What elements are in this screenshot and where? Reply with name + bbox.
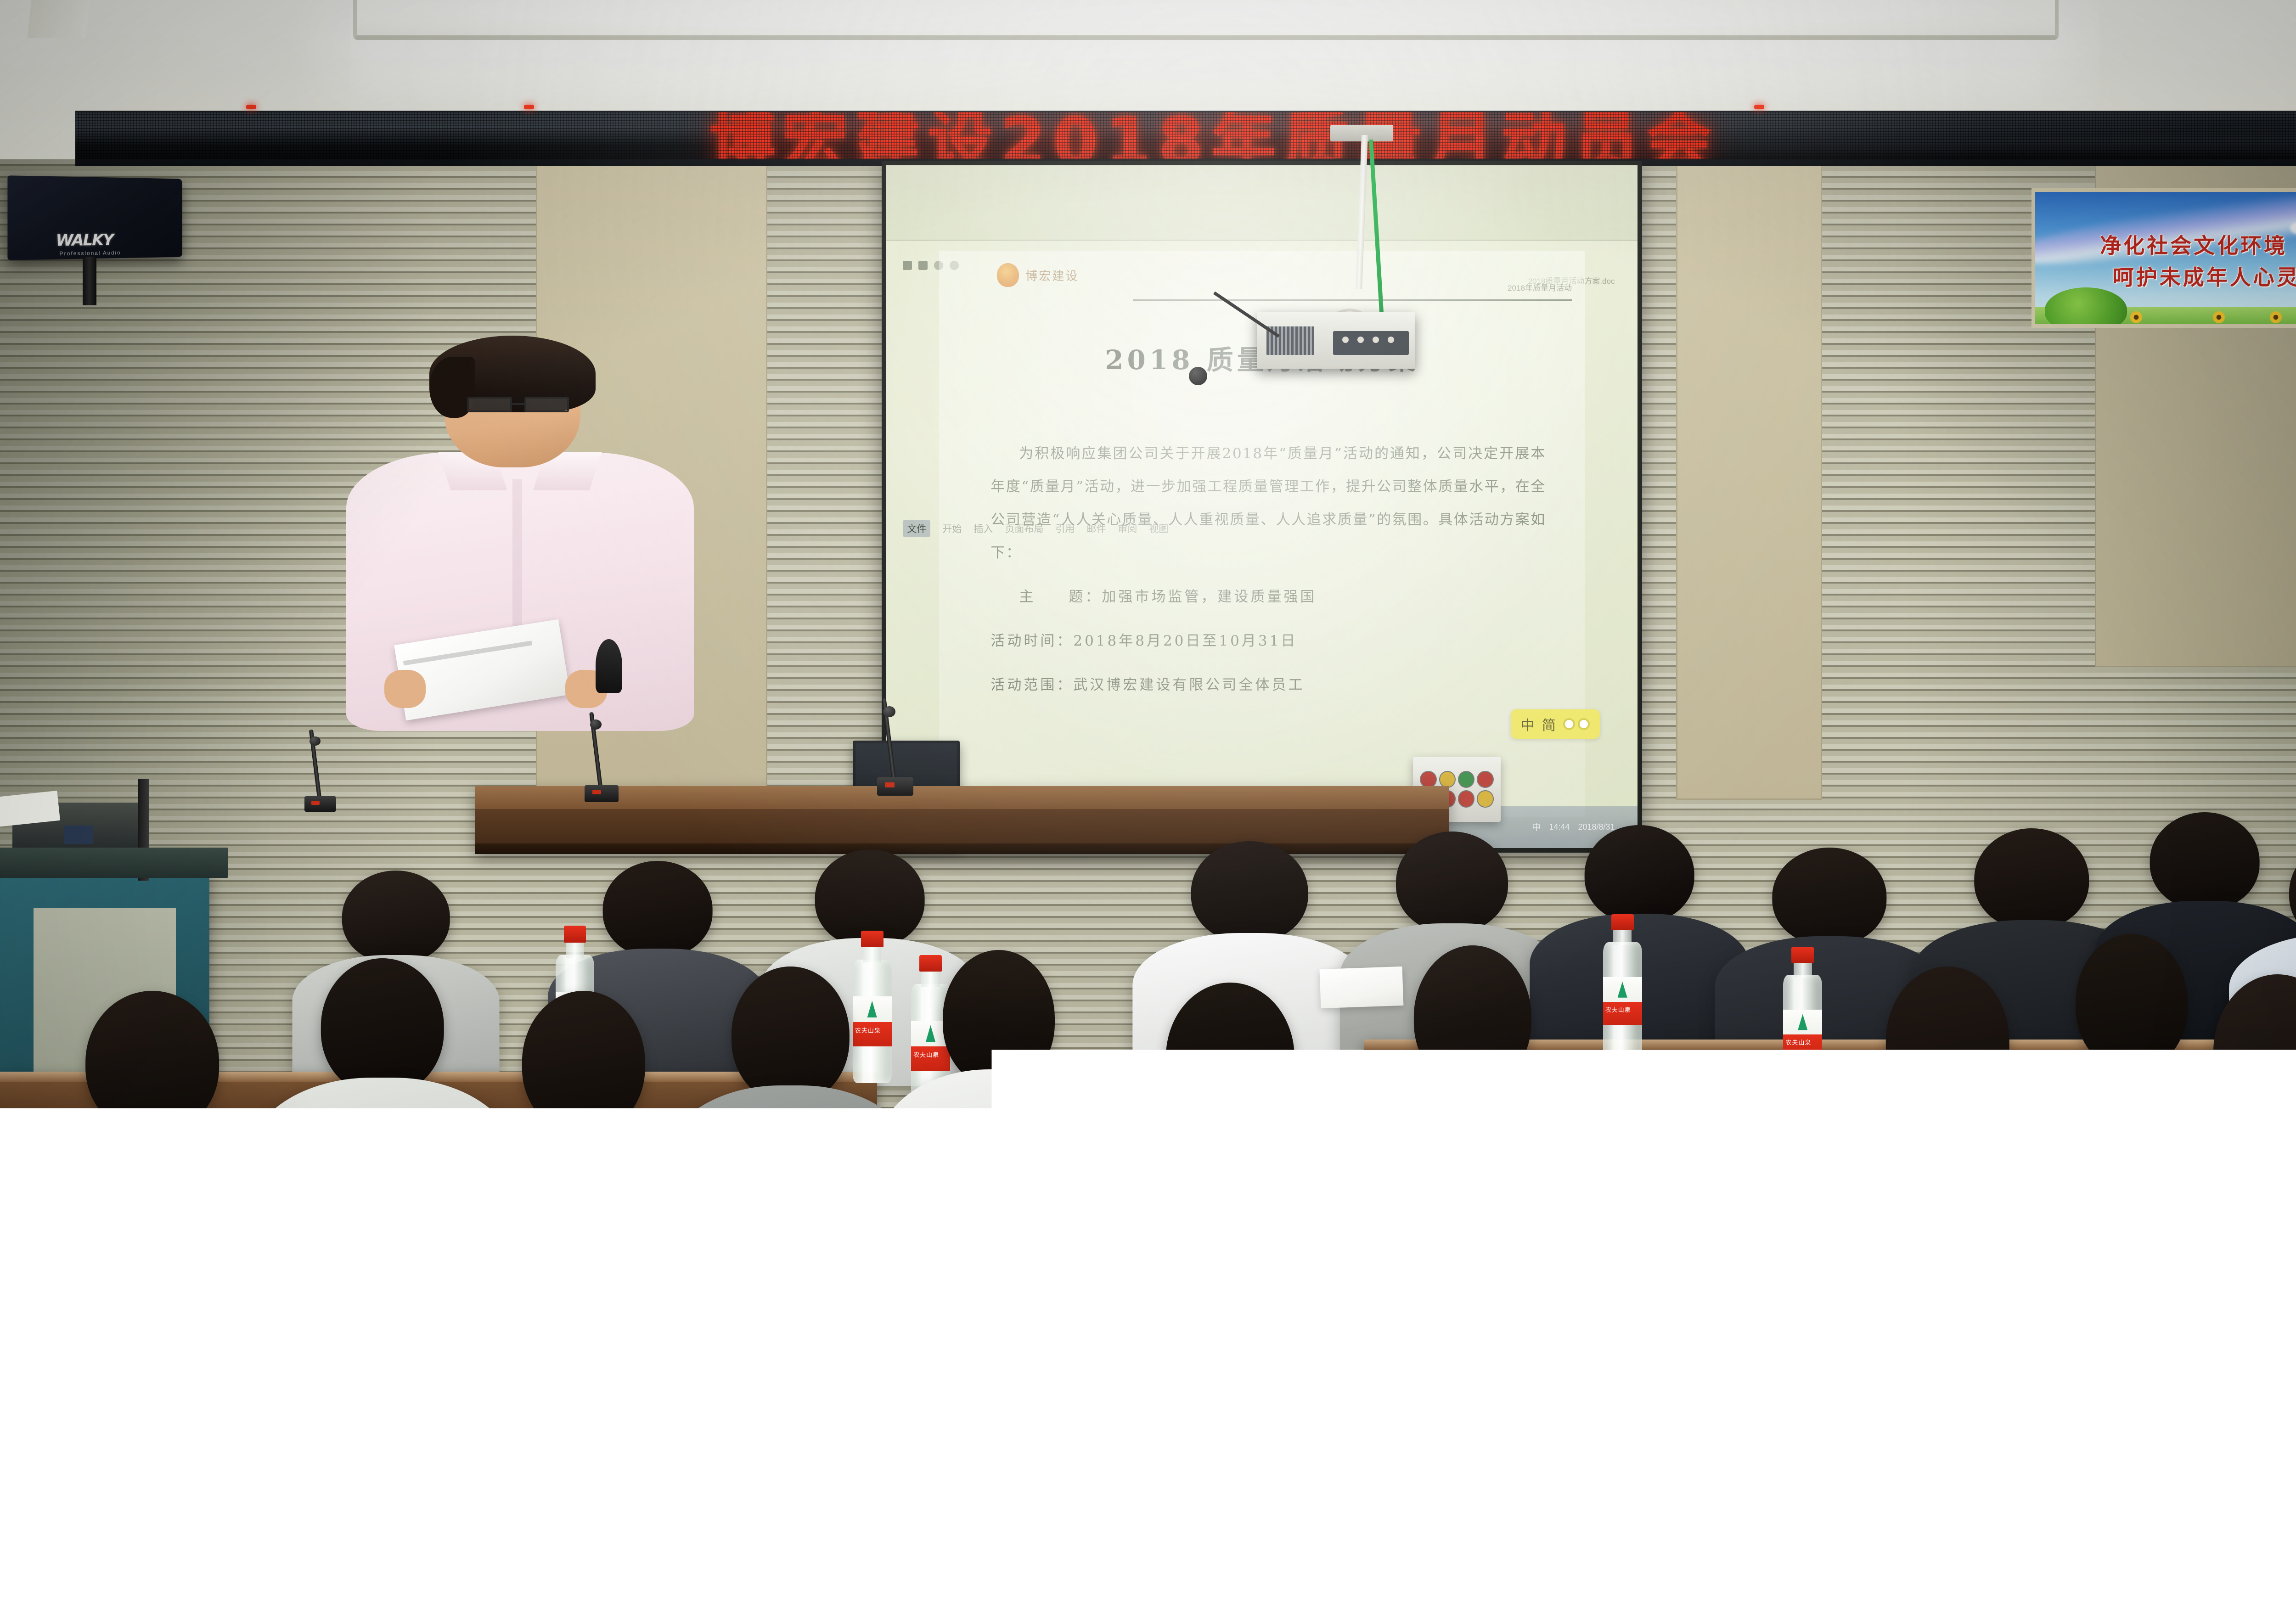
led-indicator-icon (1754, 105, 1764, 109)
menu-item-file[interactable]: 文件 (903, 520, 930, 537)
presenter (331, 349, 709, 731)
poster-tree-icon (2045, 287, 2127, 325)
save-icon[interactable] (918, 261, 928, 270)
wall-poster: 净化社会文化环境 呵护未成年人心灵 (2035, 192, 2296, 324)
document-header-note: 2018年质量月活动 (1508, 281, 1572, 293)
wall-poster-frame: 净化社会文化环境 呵护未成年人心灵 (2032, 188, 2296, 328)
speaker-tagline-label: Professional Audio (60, 249, 121, 256)
led-banner: 博宏建设2018年质量月动员会 (75, 112, 2296, 159)
ceiling-beam-left (27, 0, 90, 38)
gooseneck-microphone (304, 741, 336, 812)
document-body: 为积极响应集团公司关于开展2018年“质量月”活动的通知，公司决定开展本年度“质… (990, 438, 1546, 702)
projector-port-panel (1333, 331, 1409, 355)
led-pixel-grid (75, 112, 2296, 159)
speaker-wall-bracket (83, 257, 96, 305)
ime-toolbar[interactable]: 中 简 (1511, 709, 1600, 739)
rca-port-icon (1373, 337, 1379, 343)
rca-port-icon (1388, 337, 1394, 343)
rca-port-icon (1357, 337, 1364, 343)
presenter-left-hand (384, 670, 426, 708)
open-booklet (2067, 1460, 2296, 1593)
led-indicator-icon (246, 105, 256, 109)
speaker-brand-label: WALKY (56, 231, 113, 250)
rca-port-icon (1342, 337, 1349, 343)
handheld-microphone (596, 639, 622, 692)
hanging-microphone-head (1189, 367, 1207, 385)
water-bottle: 农夫山泉 (1316, 1267, 1379, 1497)
projection-screen-frame: 2018质量月活动方案.doc 文件 开始 插入 页面布局 引用 邮件 审阅 视… (882, 161, 1642, 853)
ceiling-projector (1257, 312, 1415, 369)
document-paragraph: 活动时间：2018年8月20日至10月31日 (990, 625, 1546, 658)
projection-screen: 2018质量月活动方案.doc 文件 开始 插入 页面布局 引用 邮件 审阅 视… (886, 165, 1637, 848)
water-bottle: 农夫山泉 (872, 1275, 935, 1506)
document-paragraph: 活动范围：武汉博宏建设有限公司全体员工 (990, 669, 1546, 702)
app-ribbon (886, 165, 1637, 241)
gooseneck-microphone (877, 711, 914, 796)
water-bottle: 农夫山泉 (1936, 1429, 2005, 1624)
document-header: 博宏建设 (997, 263, 1079, 287)
ime-mode-label[interactable]: 中 (1521, 714, 1535, 734)
pa-speaker-cabinet: WALKY Professional Audio (8, 175, 183, 260)
document-header-rule (1133, 299, 1572, 301)
company-logo-icon (997, 263, 1019, 287)
app-logo-icon (903, 261, 912, 270)
poster-sunflower-icon (2270, 311, 2282, 323)
water-bottle: 农夫山泉 (2042, 1234, 2105, 1461)
company-name-label: 博宏建设 (1025, 267, 1079, 284)
water-bottle: 农夫山泉 (370, 1286, 433, 1513)
document-paragraph: 主 题：加强市场监管，建设质量强国 (990, 581, 1546, 614)
shoulder-bag (37, 1510, 354, 1624)
gooseneck-microphone (585, 725, 619, 803)
water-bottle: 农夫山泉 (1598, 914, 1647, 1060)
rack-top-surface (0, 848, 228, 877)
sogou-eyes-icon[interactable] (1563, 718, 1590, 730)
ime-tool-label[interactable]: 简 (1542, 714, 1556, 734)
desk-foreground-mid (706, 1478, 1218, 1624)
led-indicator-icon (524, 105, 534, 109)
glasses-icon (467, 397, 569, 412)
poster-sunflower-icon (2213, 311, 2225, 323)
poster-sunflower-icon (2130, 311, 2142, 323)
poster-line-2: 呵护未成年人心灵 (2035, 261, 2296, 291)
meeting-room-photo: 博宏建设2018年质量月动员会 WALKY Professional Audio… (0, 0, 2296, 1624)
poster-line-1: 净化社会文化环境 (2035, 229, 2296, 259)
ceiling-light-panel (353, 0, 2059, 40)
document-paragraph: 为积极响应集团公司关于开展2018年“质量月”活动的通知，公司决定开展本年度“质… (990, 438, 1546, 570)
